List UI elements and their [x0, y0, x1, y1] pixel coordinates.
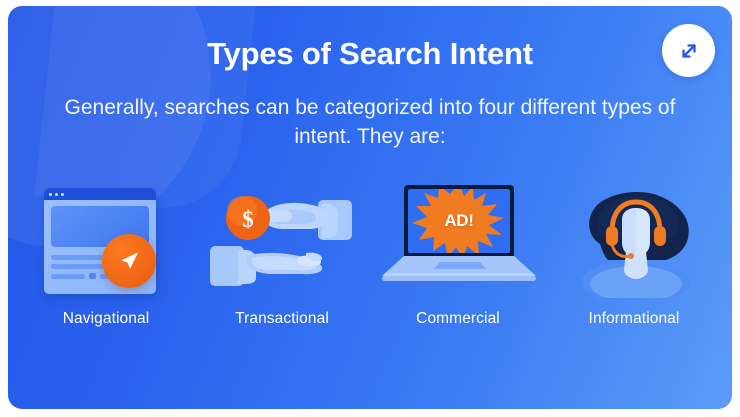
intent-item-commercial[interactable]: AD! Commercial	[373, 182, 543, 328]
face-shadow	[622, 208, 636, 256]
page-subtitle: Generally, searches can be categorized i…	[58, 94, 682, 152]
browser-dot-icon	[55, 193, 58, 196]
navigational-illustration	[26, 182, 186, 300]
infographic-panel: Expand Types of Search Intent Generally,…	[8, 6, 732, 409]
headset-earcup-right	[654, 226, 666, 246]
dollar-coin-icon: $	[226, 196, 270, 240]
intent-item-navigational[interactable]: Navigational	[21, 182, 191, 328]
ad-starburst-icon: AD!	[411, 189, 507, 253]
laptop-base-icon	[382, 256, 536, 280]
browser-text-line	[51, 274, 85, 279]
intent-item-informational[interactable]: Informational	[549, 182, 719, 328]
commercial-illustration: AD!	[378, 182, 538, 300]
intent-label-navigational: Navigational	[63, 310, 150, 328]
informational-illustration	[554, 182, 714, 300]
laptop-base-shape	[382, 256, 536, 282]
navigation-arrow-icon	[114, 246, 144, 276]
ad-label: AD!	[444, 211, 473, 231]
browser-title-bar	[44, 188, 156, 200]
intent-label-transactional: Transactional	[235, 310, 329, 328]
browser-dot-icon	[49, 193, 52, 196]
headset-mic-tip	[628, 253, 634, 259]
hand-giving-icon	[262, 200, 352, 240]
transactional-illustration: $	[202, 182, 362, 300]
hands-exchanging-coin-icon: $	[202, 182, 362, 300]
intent-item-transactional[interactable]: $ Transactional	[197, 182, 367, 328]
laptop-display: AD!	[408, 189, 510, 253]
browser-chip-icon	[89, 273, 96, 279]
intent-label-commercial: Commercial	[416, 310, 500, 328]
search-intent-infographic: Expand Types of Search Intent Generally,…	[0, 0, 740, 417]
intent-label-informational: Informational	[589, 310, 680, 328]
hand-receiving-icon	[210, 246, 322, 286]
intent-types-row: Navigational	[18, 182, 722, 328]
browser-dot-icon	[61, 193, 64, 196]
laptop-screen-icon: AD!	[404, 185, 514, 257]
page-title: Types of Search Intent	[8, 37, 732, 71]
svg-text:$: $	[242, 207, 254, 232]
navigation-arrow-badge-icon	[102, 234, 156, 288]
person-with-headset-icon	[570, 186, 702, 298]
